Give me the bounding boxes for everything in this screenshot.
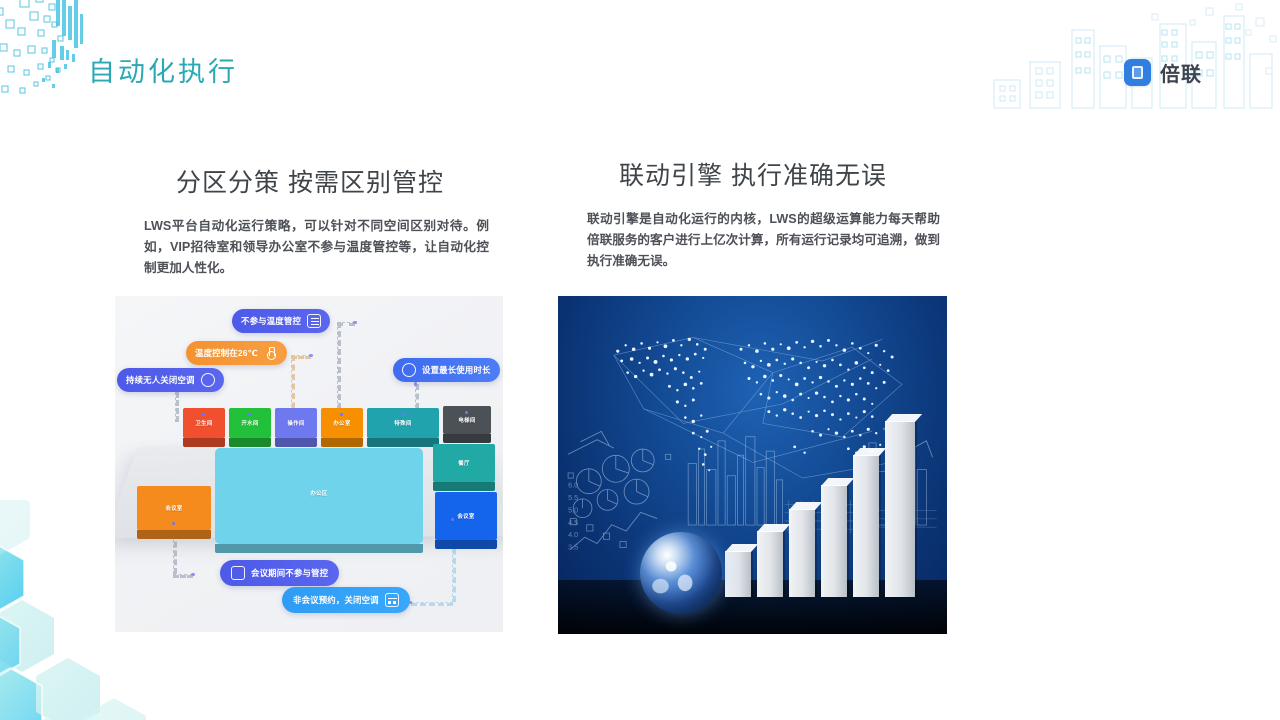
badge-no-temperature-control[interactable]: 不参与温度管控: [232, 309, 330, 333]
bar: [725, 551, 751, 597]
thermometer-icon: [264, 346, 278, 360]
brand-logo: 倍联: [1124, 58, 1202, 87]
badge-temperature-26[interactable]: 温度控制在26℃: [186, 341, 287, 365]
room-label: 电梯间: [458, 416, 475, 424]
room-marker-dot: [402, 413, 405, 416]
badge-label: 设置最长使用时长: [422, 364, 491, 376]
timer-icon: [402, 363, 416, 377]
svg-text:6.0: 6.0: [568, 481, 578, 490]
connector-dot: [414, 382, 418, 386]
room-marker-dot: [248, 413, 251, 416]
3d-globe: [640, 532, 722, 614]
room-block: 办公区: [215, 448, 423, 544]
svg-text:5.5: 5.5: [568, 493, 578, 502]
room-label: 办公区: [310, 489, 327, 497]
room-block: 餐厅: [433, 444, 495, 482]
room-label: 会议室: [457, 512, 474, 520]
column-left: 分区分策 按需区别管控 LWS平台自动化运行策略，可以针对不同空间区别对待。例如…: [115, 150, 505, 279]
room-marker-dot: [202, 413, 205, 416]
connector-dot: [353, 321, 357, 325]
document-lines-icon: [307, 314, 321, 328]
room-marker-dot: [451, 518, 454, 521]
bar: [885, 421, 915, 597]
rounded-square-logo-icon: [1124, 59, 1151, 86]
calendar-icon: [385, 593, 399, 607]
connector-line: [411, 602, 453, 606]
bar: [853, 455, 879, 597]
badge-label: 不参与温度管控: [241, 315, 301, 327]
badge-meeting-exempt[interactable]: 会议期间不参与管控: [220, 560, 339, 586]
motion-sensor-icon: [201, 373, 215, 387]
ascending-white-bar-chart: [721, 387, 916, 597]
figure-global-analytics: 6.05.55.0 4.54.03.5: [558, 296, 947, 634]
room-label: 办公室: [333, 419, 350, 427]
room-label: 操作间: [287, 419, 304, 427]
bar: [821, 485, 847, 597]
svg-text:4.0: 4.0: [568, 531, 578, 540]
room-block: 操作间: [275, 408, 317, 438]
room-label: 开水间: [241, 419, 258, 427]
page-title: 自动化执行: [88, 50, 238, 89]
connector-dot: [191, 573, 195, 577]
svg-text:3.5: 3.5: [568, 543, 578, 552]
svg-text:4.5: 4.5: [568, 518, 578, 527]
room-marker-dot: [172, 522, 175, 525]
room-block: 会议室: [435, 492, 497, 540]
badge-label: 温度控制在26℃: [195, 347, 258, 359]
connector-line: [337, 322, 341, 418]
badge-no-booking-shutdown-ac[interactable]: 非会议预约，关闭空调: [282, 587, 410, 613]
room-label: 会议室: [165, 504, 182, 512]
connector-dot: [309, 354, 313, 358]
presentation-icon: [231, 566, 245, 580]
badge-label: 会议期间不参与管控: [251, 567, 328, 579]
connector-line: [173, 574, 193, 578]
slide-root: 自动化执行 倍联 分区分策 按需区别管控 LWS平台自动化运行策略，可以针对不同…: [0, 0, 1280, 720]
isometric-scene: 卫生间 开水间 操作间 办公室 特殊间 电梯间: [115, 296, 503, 632]
room-label: 卫生间: [195, 419, 212, 427]
column-right: 联动引擎 执行准确无误 联动引擎是自动化运行的内核，LWS的超级运算能力每天帮助…: [558, 150, 948, 272]
brand-name: 倍联: [1160, 58, 1202, 87]
figure-office-zoning: 卫生间 开水间 操作间 办公室 特殊间 电梯间: [115, 296, 503, 632]
bar: [757, 531, 783, 597]
column-right-heading: 联动引擎 执行准确无误: [558, 156, 948, 192]
bar: [789, 509, 815, 597]
column-left-heading: 分区分策 按需区别管控: [115, 163, 505, 199]
room-marker-dot: [340, 413, 343, 416]
badge-max-usage-duration[interactable]: 设置最长使用时长: [393, 358, 500, 382]
badge-unoccupied-shutdown-ac[interactable]: 持续无人关闭空调: [117, 368, 224, 392]
room-label: 餐厅: [458, 459, 470, 467]
badge-label: 持续无人关闭空调: [126, 374, 195, 386]
svg-text:5.0: 5.0: [568, 506, 578, 515]
connector-line: [291, 355, 311, 359]
connector-line: [175, 392, 179, 422]
room-label: 特殊间: [394, 419, 411, 427]
room-marker-dot: [465, 411, 468, 414]
slide-header: 自动化执行 倍联: [0, 0, 1280, 118]
column-right-body: 联动引擎是自动化运行的内核，LWS的超级运算能力每天帮助倍联服务的客户进行上亿次…: [558, 209, 948, 272]
column-left-body: LWS平台自动化运行策略，可以针对不同空间区别对待。例如，VIP招待室和领导办公…: [115, 216, 505, 279]
badge-label: 非会议预约，关闭空调: [293, 594, 379, 606]
analytics-photo: 6.05.55.0 4.54.03.5: [558, 296, 947, 634]
